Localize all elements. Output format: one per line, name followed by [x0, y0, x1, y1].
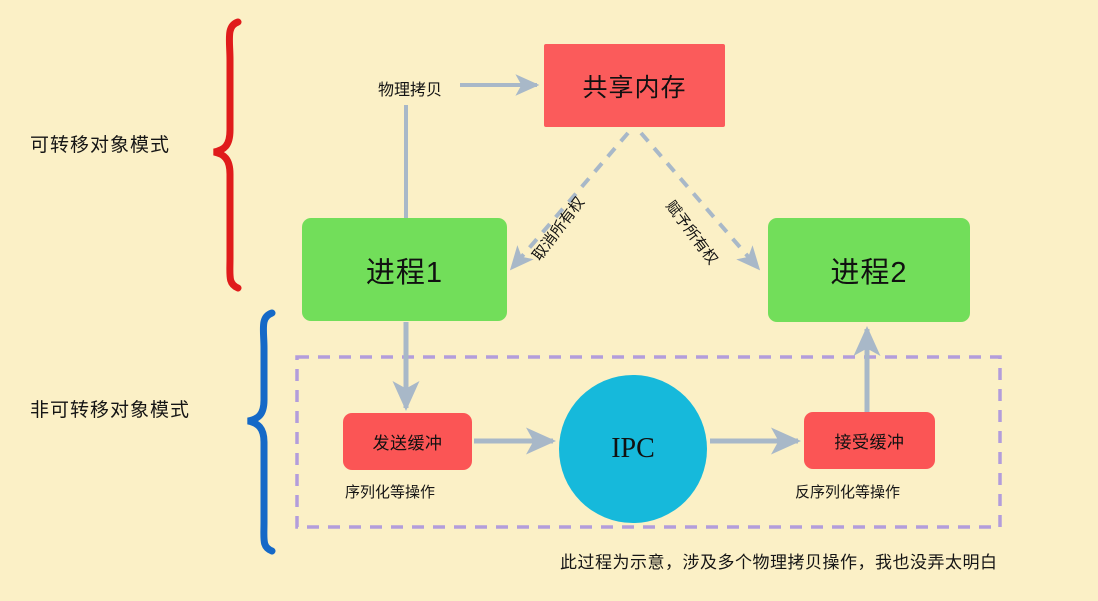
brace-label-transferable: 可转移对象模式	[30, 130, 170, 157]
node-shared-memory[interactable]: 共享内存	[544, 44, 725, 127]
brace-transferable	[214, 22, 238, 288]
node-ipc[interactable]: IPC	[559, 375, 707, 523]
node-process-1[interactable]: 进程1	[302, 218, 507, 321]
annotation-footnote: 此过程为示意，涉及多个物理拷贝操作，我也没弄太明白	[560, 548, 998, 573]
annotation-serialize: 序列化等操作	[345, 481, 435, 502]
brace-non-transferable	[248, 313, 272, 551]
node-receive-buffer[interactable]: 接受缓冲	[804, 412, 935, 469]
node-process-2[interactable]: 进程2	[768, 218, 970, 322]
edge-label-physical-copy: 物理拷贝	[378, 76, 442, 100]
node-send-buffer[interactable]: 发送缓冲	[343, 413, 472, 470]
annotation-deserialize: 反序列化等操作	[795, 481, 900, 502]
brace-label-non-transferable: 非可转移对象模式	[30, 395, 190, 422]
